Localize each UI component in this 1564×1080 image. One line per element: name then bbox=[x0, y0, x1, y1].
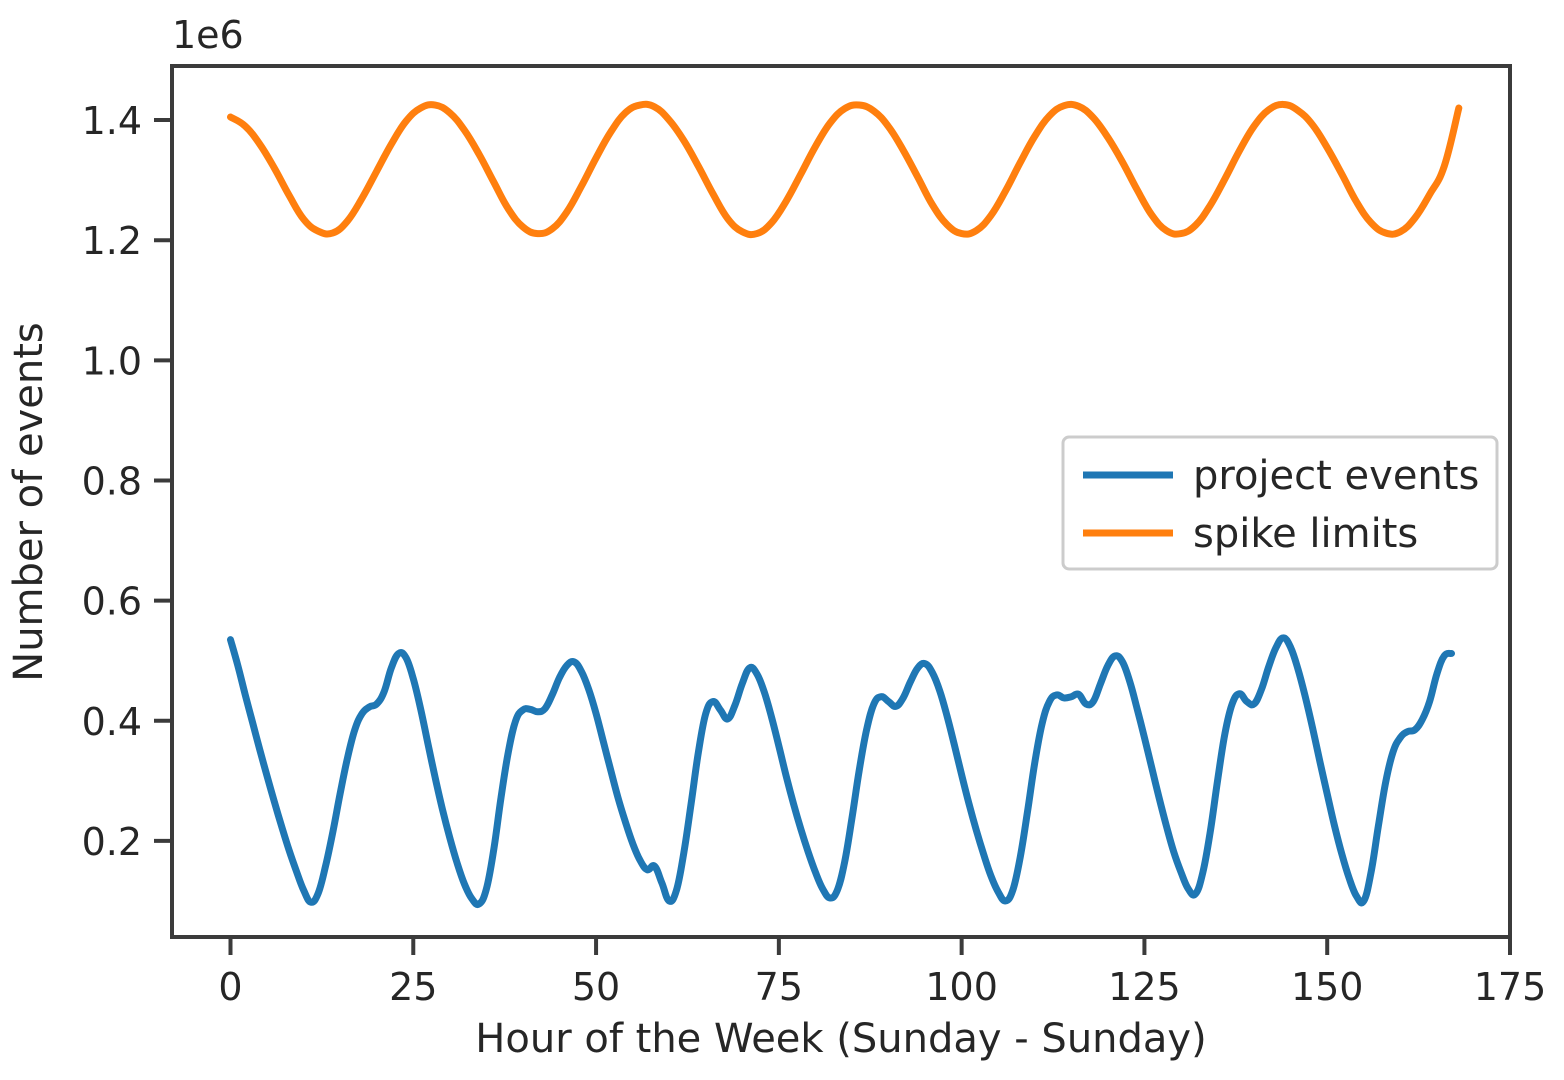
y-axis-offset-label: 1e6 bbox=[172, 13, 244, 57]
y-tick-label: 0.2 bbox=[82, 820, 142, 864]
y-tick-label: 1.4 bbox=[82, 99, 142, 143]
legend-label-spike-limits: spike limits bbox=[1193, 511, 1418, 557]
line-chart: 0255075100125150175 0.20.40.60.81.01.21.… bbox=[0, 0, 1564, 1080]
y-axis-title: Number of events bbox=[6, 322, 52, 681]
y-tick-label: 1.2 bbox=[82, 219, 142, 263]
x-tick-label: 0 bbox=[218, 965, 242, 1009]
x-tick-label: 100 bbox=[925, 965, 998, 1009]
y-tick-label: 1.0 bbox=[82, 339, 142, 383]
x-tick-label: 150 bbox=[1291, 965, 1364, 1009]
x-tick-label: 175 bbox=[1474, 965, 1547, 1009]
x-tick-label: 75 bbox=[755, 965, 803, 1009]
y-tick-label: 0.8 bbox=[82, 459, 142, 503]
chart-legend[interactable]: project events spike limits bbox=[1063, 437, 1497, 569]
x-tick-label: 125 bbox=[1108, 965, 1181, 1009]
x-tick-label: 25 bbox=[389, 965, 437, 1009]
x-tick-label: 50 bbox=[572, 965, 620, 1009]
y-tick-label: 0.6 bbox=[82, 580, 142, 624]
legend-label-project-events: project events bbox=[1193, 453, 1479, 499]
chart-figure: 0255075100125150175 0.20.40.60.81.01.21.… bbox=[0, 0, 1564, 1080]
x-axis-title: Hour of the Week (Sunday - Sunday) bbox=[475, 1016, 1206, 1062]
y-tick-label: 0.4 bbox=[82, 700, 142, 744]
